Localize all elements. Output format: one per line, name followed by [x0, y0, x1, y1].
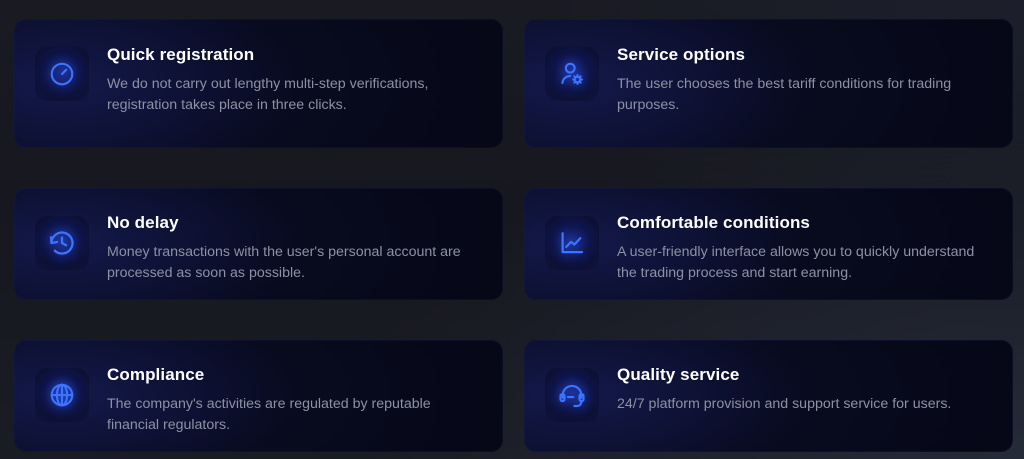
globe-icon [35, 368, 89, 422]
speedometer-icon [35, 47, 89, 101]
line-chart-icon [545, 216, 599, 270]
feature-card-quick-registration[interactable]: Quick registration We do not carry out l… [14, 19, 503, 148]
feature-title: Quick registration [107, 45, 442, 65]
clock-history-icon [35, 216, 89, 270]
feature-description: We do not carry out lengthy multi-step v… [107, 74, 442, 115]
feature-title: No delay [107, 213, 483, 233]
feature-card-no-delay[interactable]: No delay Money transactions with the use… [14, 188, 503, 300]
headset-icon [545, 368, 599, 422]
feature-text: Compliance The company's activities are … [107, 365, 483, 435]
feature-text: Quality service 24/7 platform provision … [617, 365, 951, 415]
feature-text: Comfortable conditions A user-friendly i… [617, 213, 987, 283]
feature-text: No delay Money transactions with the use… [107, 213, 483, 283]
feature-title: Service options [617, 45, 952, 65]
feature-description: 24/7 platform provision and support serv… [617, 394, 951, 415]
feature-description: The company's activities are regulated b… [107, 394, 483, 435]
feature-description: The user chooses the best tariff conditi… [617, 74, 952, 115]
feature-title: Comfortable conditions [617, 213, 987, 233]
feature-title: Quality service [617, 365, 951, 385]
features-section: Quick registration We do not carry out l… [0, 0, 1024, 459]
user-settings-icon [545, 47, 599, 101]
features-grid: Quick registration We do not carry out l… [14, 19, 1010, 452]
feature-text: Service options The user chooses the bes… [617, 45, 952, 115]
feature-title: Compliance [107, 365, 483, 385]
feature-card-comfortable-conditions[interactable]: Comfortable conditions A user-friendly i… [524, 188, 1013, 300]
feature-description: Money transactions with the user's perso… [107, 242, 483, 283]
feature-description: A user-friendly interface allows you to … [617, 242, 987, 283]
feature-text: Quick registration We do not carry out l… [107, 45, 442, 115]
feature-card-service-options[interactable]: Service options The user chooses the bes… [524, 19, 1013, 148]
feature-card-quality-service[interactable]: Quality service 24/7 platform provision … [524, 340, 1013, 452]
feature-card-compliance[interactable]: Compliance The company's activities are … [14, 340, 503, 452]
